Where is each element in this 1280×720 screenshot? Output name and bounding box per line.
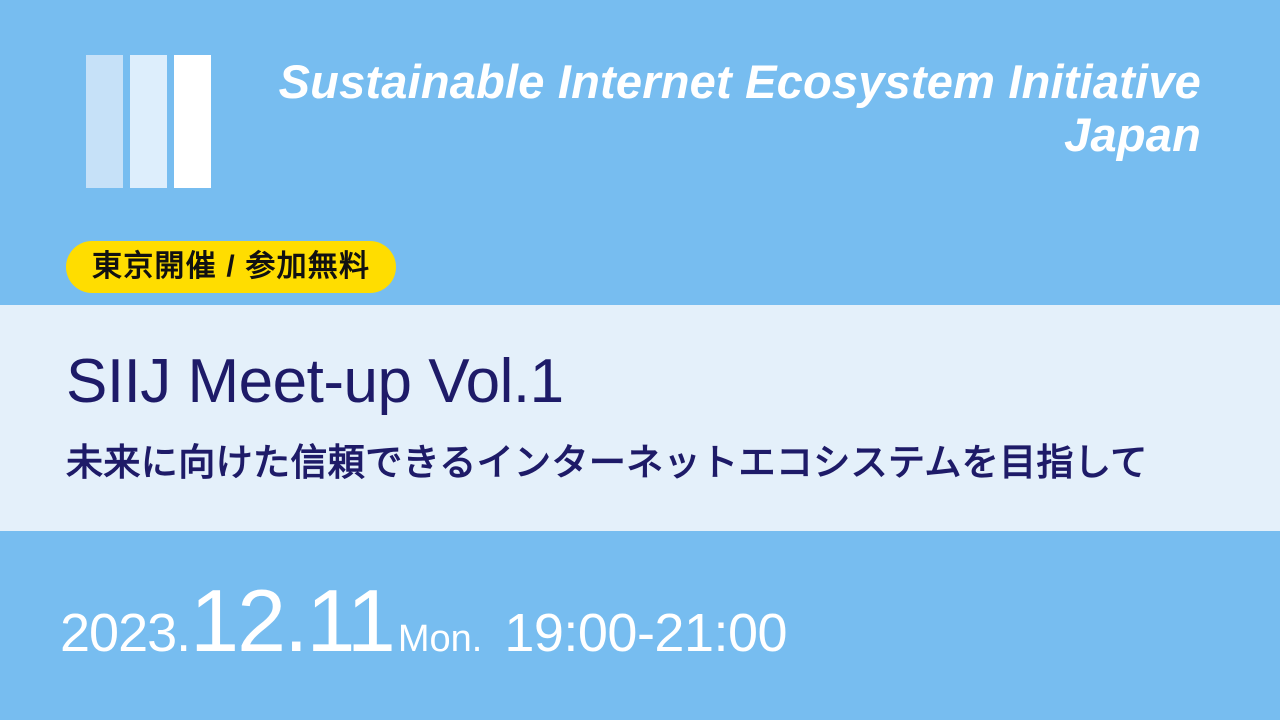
brand-name-line-1: Sustainable Internet Ecosystem Initiativ… — [279, 55, 1201, 108]
status-badge-label: 東京開催 / 参加無料 — [92, 252, 370, 282]
event-banner: Sustainable Internet Ecosystem Initiativ… — [0, 0, 1280, 720]
page-title: SIIJ Meet-up Vol.1 — [66, 351, 564, 413]
event-month-day: 12.11 — [190, 577, 394, 665]
page-subtitle: 未来に向けた信頼できるインターネットエコシステムを目指して — [66, 444, 1148, 481]
siij-logo-icon — [86, 55, 211, 188]
event-day-of-week: Mon. — [394, 620, 482, 658]
datetime-band: 2023. 12.11 Mon. 19:00-21:00 — [0, 531, 1280, 720]
logo-bar-left-icon — [86, 55, 123, 188]
event-datetime: 2023. 12.11 Mon. 19:00-21:00 — [60, 577, 787, 665]
logo-bar-right-icon — [174, 55, 211, 188]
brand-lockup: Sustainable Internet Ecosystem Initiativ… — [86, 55, 1201, 190]
status-badge: 東京開催 / 参加無料 — [66, 241, 396, 293]
brand-name: Sustainable Internet Ecosystem Initiativ… — [211, 55, 1201, 161]
title-band: SIIJ Meet-up Vol.1 未来に向けた信頼できるインターネットエコシ… — [0, 305, 1280, 531]
event-time-range: 19:00-21:00 — [482, 606, 787, 660]
brand-name-line-2: Japan — [229, 108, 1201, 161]
header-band: Sustainable Internet Ecosystem Initiativ… — [0, 0, 1280, 305]
logo-bar-middle-icon — [130, 55, 167, 188]
event-year: 2023. — [60, 606, 190, 660]
